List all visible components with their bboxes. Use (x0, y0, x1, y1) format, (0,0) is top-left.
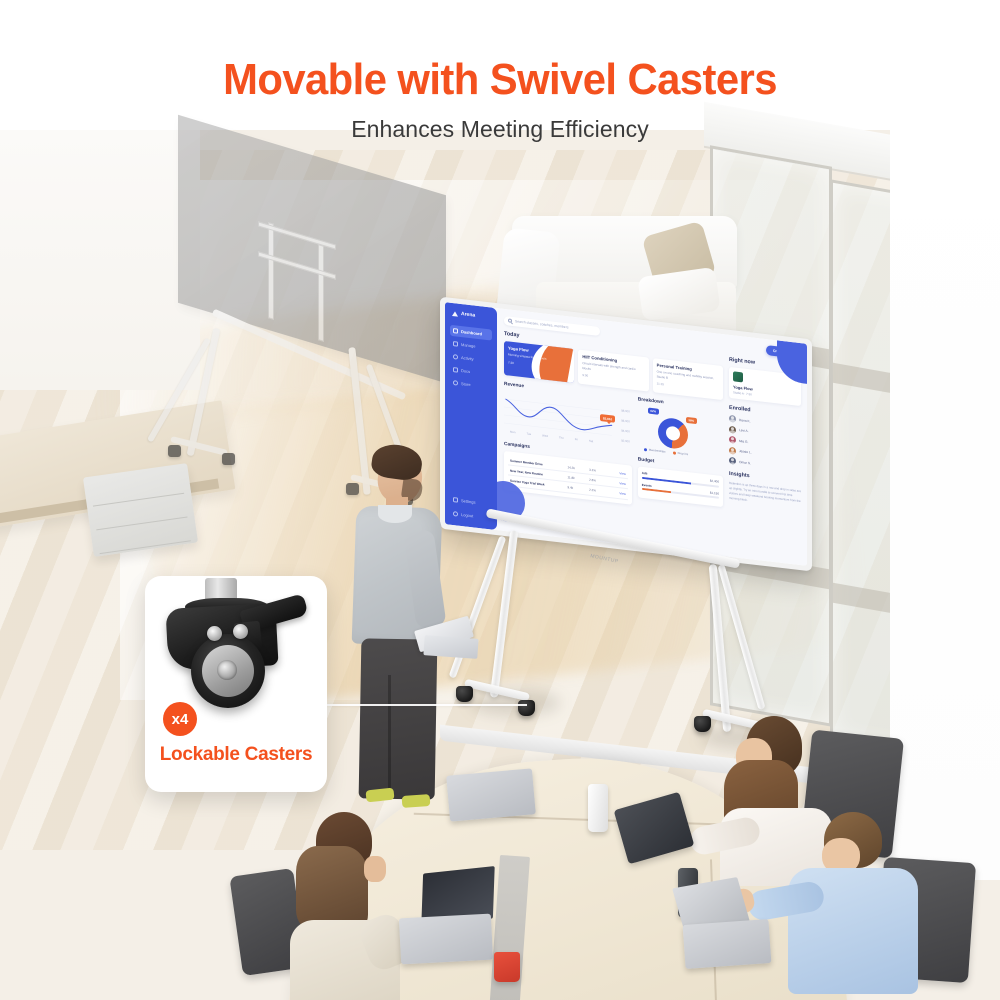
donut-legend: Memberships Drop-ins (644, 447, 688, 456)
person-seated-left (290, 812, 410, 1000)
app-logo: Arena (450, 310, 492, 321)
x-tick: Sat (589, 439, 593, 443)
campaigns-table: Summer Member Drive 14.2k 3.1% View (508, 455, 628, 499)
y-tick: $4,000 (621, 428, 630, 433)
clock-icon (453, 354, 458, 360)
x-tick: Mon (510, 430, 515, 435)
sidebar-item-store[interactable]: Store (450, 377, 492, 393)
member-name: Mia G. (739, 439, 748, 444)
ghost-caster (168, 445, 181, 457)
ghost-caster (222, 453, 235, 465)
budget-card: Ads $2,400 Ev (638, 466, 723, 507)
product-marketing-image: Arena Dashboard Manage (0, 0, 1000, 1000)
person-seated-right-lower (770, 812, 940, 1000)
sidebar-item-label: Manage (461, 342, 475, 349)
red-mug (494, 952, 520, 982)
budget-value: $1,150 (710, 490, 719, 495)
laptop-closed (448, 772, 534, 818)
search-icon (508, 318, 512, 322)
swivel-caster (518, 700, 535, 716)
vesa-bracket-rail (268, 222, 274, 320)
campaign-reach: 9.4k (566, 482, 588, 495)
sidebar-item-label: Store (461, 381, 471, 387)
page-subtitle: Enhances Meeting Efficiency (0, 116, 1000, 143)
member-name: Omar S. (739, 460, 751, 465)
swivel-caster-photo (145, 576, 327, 716)
mobile-tv-stand: Arena Dashboard Manage (440, 318, 840, 748)
search-placeholder: Search classes, coaches, members (515, 319, 569, 329)
y-tick: $8,000 (621, 408, 630, 413)
main-column: Today Yoga Flow Morning vinyasa for all … (504, 331, 723, 515)
sidebar-item-label: Dashboard (461, 329, 482, 336)
budget-value: $2,400 (710, 479, 719, 484)
display-bezel: Arena Dashboard Manage (440, 297, 812, 572)
campaign-rate: 2.2% (587, 484, 608, 497)
today-card[interactable]: Personal Training One on one coaching an… (653, 358, 723, 400)
avatar (729, 436, 736, 444)
x-tick: Tue (526, 432, 531, 437)
triangle-logo-icon (452, 310, 458, 316)
display-screen: Arena Dashboard Manage (445, 302, 807, 566)
grid-icon (453, 328, 458, 334)
caster-bolt (233, 624, 248, 639)
revenue-y-axis: $8,000 $6,000 $4,000 $2,000 (621, 408, 630, 443)
layers-icon (453, 341, 458, 347)
insights-body: Retention is up three days in a row and … (729, 481, 801, 508)
store-icon (453, 380, 458, 386)
document-icon (453, 367, 458, 373)
sidebar-nav[interactable]: Dashboard Manage Activity (450, 325, 492, 393)
legend-entry: Memberships (644, 447, 666, 454)
page-title: Movable with Swivel Casters (25, 58, 975, 103)
callout-label: Lockable Casters (145, 744, 327, 766)
app-logo-text: Arena (461, 311, 475, 319)
ghost-display-back (178, 115, 446, 383)
class-thumbnail (733, 371, 743, 382)
member-name: Jessie L. (739, 449, 752, 454)
avatar (729, 425, 736, 433)
presenter-laptop (416, 623, 478, 657)
legend-entry: Drop-ins (673, 450, 689, 456)
budget-label: Events (642, 482, 652, 487)
presenter-collar (378, 505, 412, 523)
right-white-wall (890, 120, 1000, 880)
avatar (729, 457, 736, 465)
avatar (729, 447, 736, 455)
x-tick: Thu (559, 435, 564, 440)
x-tick: Fri (575, 437, 578, 441)
breakdown-donut-chart: 62% 38% Memberships Drop-ins (638, 406, 723, 462)
caster-wheel (191, 634, 265, 708)
person-presenter (350, 445, 470, 805)
presenter-shoe (402, 794, 431, 808)
quantity-badge: x4 (163, 702, 197, 736)
donut-label-secondary: 38% (686, 417, 697, 425)
app-columns: Today Yoga Flow Morning vinyasa for all … (504, 331, 801, 524)
enrolled-list: Dana K. Levi A. Mia G. (729, 415, 801, 473)
presenter-trousers (359, 638, 438, 799)
budget-label: Ads (642, 471, 648, 476)
x-tick: Wed (542, 433, 548, 438)
y-tick: $6,000 (621, 418, 630, 423)
sidebar-item-label: Docs (461, 368, 470, 374)
header-block: Movable with Swivel Casters Enhances Mee… (0, 0, 1000, 152)
sidebar-item-label: Activity (461, 355, 474, 361)
caster-axle-hub (217, 660, 237, 680)
campaign-action[interactable]: View (608, 487, 628, 499)
avatar (729, 415, 736, 423)
caster-callout-card: x4 Lockable Casters (145, 576, 327, 792)
today-card[interactable]: HIIT Conditioning Circuit intervals with… (578, 350, 648, 392)
presenter-leg-split (388, 675, 391, 793)
presenter-shoe (365, 788, 394, 803)
right-column: Right now Yoga Flow Studio A · 7:30 Enro… (729, 357, 801, 524)
vesa-bracket-rail (318, 244, 324, 342)
stand-brandmark: MOUNTUP (590, 553, 619, 565)
dashboard-app: Arena Dashboard Manage (445, 302, 807, 566)
person-face (364, 856, 386, 882)
today-card-hero[interactable]: Yoga Flow Morning vinyasa for all levels… (504, 341, 574, 383)
member-name: Dana K. (739, 417, 751, 422)
caster-bolt (207, 626, 222, 641)
water-bottle-white (588, 784, 608, 832)
member-name: Levi A. (739, 428, 749, 433)
y-tick: $2,000 (621, 438, 630, 443)
callout-leader-line (327, 704, 527, 706)
donut-label-primary: 62% (648, 408, 659, 416)
donut-ring (658, 417, 688, 450)
